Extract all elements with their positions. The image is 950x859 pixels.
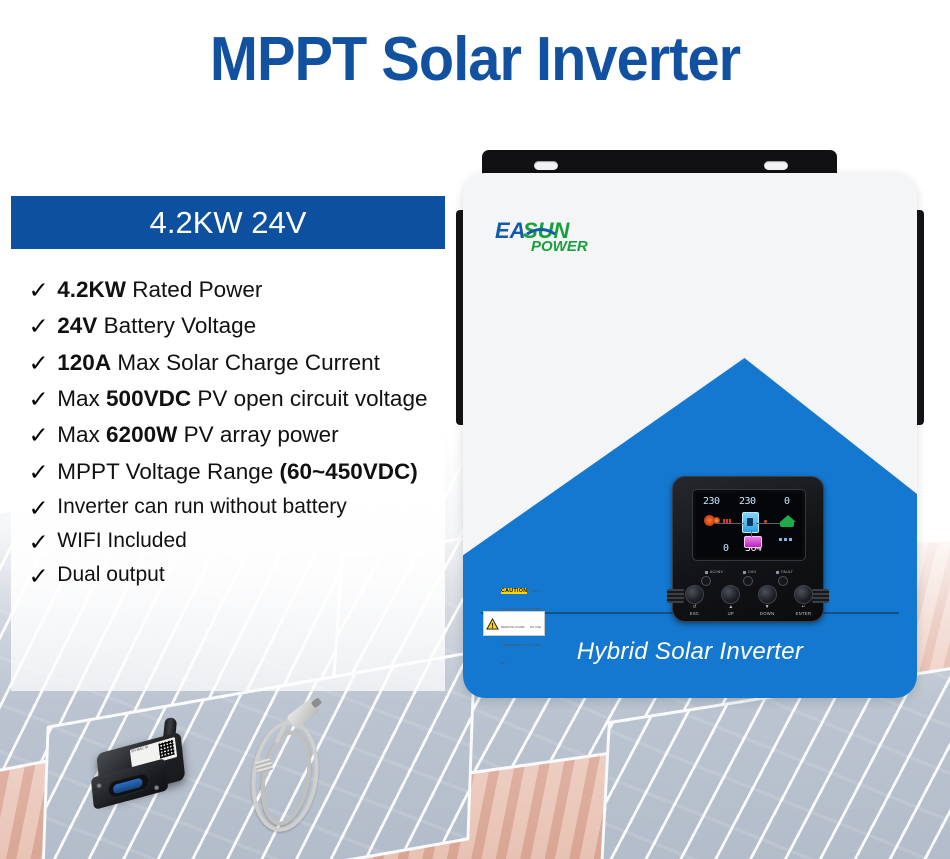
spec-card-header: 4.2KW 24V [11, 196, 445, 249]
led-dot-icon [743, 571, 746, 574]
esc-button[interactable]: ↺ ESC [685, 585, 704, 616]
spec-item-text: 120A Max Solar Charge Current [57, 348, 380, 379]
down-button-label: DOWN [760, 611, 774, 616]
lcd-flow-line-left [718, 523, 744, 524]
vent-grille-left [667, 589, 684, 603]
lcd-flow-dashes [779, 538, 793, 541]
check-icon: ✓ [29, 562, 49, 591]
spec-label: Rated Power [126, 277, 262, 302]
qr-code-icon [158, 740, 174, 759]
enter-button-label: ENTER [796, 611, 812, 616]
spec-item-text: WIFI Included [57, 527, 187, 556]
product-name-label: Hybrid Solar Inverter [463, 638, 917, 666]
lcd-load-house-icon [780, 515, 796, 522]
check-icon: ✓ [29, 349, 49, 378]
lcd-bezel: 230 230 0 0 564 [692, 489, 806, 561]
spec-item-text: Inverter can run without battery [57, 493, 346, 522]
led-dot-icon [776, 571, 779, 574]
spec-value: 120A [57, 350, 111, 375]
spec-list: ✓ 4.2KW Rated Power ✓ 24V Battery Voltag… [11, 275, 445, 596]
logo-text-power: POWER [531, 238, 588, 255]
spec-item: ✓ 4.2KW Rated Power [11, 275, 445, 306]
lcd-value-output-voltage: 230 [739, 496, 756, 507]
esc-button-cap[interactable] [685, 585, 704, 604]
spec-item: ✓ MPPT Voltage Range (60~450VDC) [11, 457, 445, 488]
enter-button-cap[interactable] [794, 585, 813, 604]
lcd-battery-icon [744, 536, 762, 548]
easun-logo-svg: EA SUN POWER [495, 218, 645, 256]
spec-item-text: Max 6200W PV array power [57, 420, 338, 451]
check-icon: ✓ [29, 421, 49, 450]
lcd-screen: 230 230 0 0 564 [696, 493, 802, 557]
check-icon: ✓ [29, 528, 49, 557]
control-panel[interactable]: 230 230 0 0 564 [672, 476, 824, 622]
led-indicator: AC/INV [705, 570, 723, 574]
spec-label: PV open circuit voltage [191, 386, 427, 411]
lcd-value-input-voltage: 230 [703, 496, 720, 507]
enter-button[interactable]: ↵ ENTER [794, 585, 813, 616]
spec-item-text: Max 500VDC PV open circuit voltage [57, 384, 427, 415]
down-button-cap[interactable] [758, 585, 777, 604]
spec-item: ✓ 120A Max Solar Charge Current [11, 348, 445, 379]
led-label: CHG [748, 570, 757, 574]
esc-icon: ↺ [692, 605, 696, 610]
spec-item: ✓ Inverter can run without battery [11, 493, 445, 522]
spec-label: Battery Voltage [97, 313, 256, 338]
spec-label: MPPT Voltage Range [57, 459, 279, 484]
down-arrow-icon: ▼ [765, 605, 770, 610]
spec-item: ✓ WIFI Included [11, 527, 445, 556]
led-label: FAULT [781, 570, 793, 574]
spec-value: (60~450VDC) [280, 459, 418, 484]
check-icon: ✓ [29, 276, 49, 305]
spec-item: ✓ 24V Battery Voltage [11, 311, 445, 342]
spec-label: PV array power [177, 422, 338, 447]
spec-item-text: Dual output [57, 561, 164, 590]
lcd-load-house-base [780, 522, 794, 527]
wifi-dongle: SN MAC ID [84, 716, 213, 820]
led-indicator: CHG [743, 570, 757, 574]
lcd-flow-line-down [751, 531, 752, 537]
easun-power-logo: EA SUN POWER [495, 218, 645, 256]
caution-band-label: CAUTION [501, 588, 527, 594]
spec-item-text: 24V Battery Voltage [57, 311, 256, 342]
spec-item-text: MPPT Voltage Range (60~450VDC) [57, 457, 417, 488]
check-icon: ✓ [29, 385, 49, 414]
vent-grille-right [812, 589, 829, 603]
logo-text-ea: EA [495, 218, 526, 243]
spec-value: 500VDC [106, 386, 191, 411]
spec-value: 6200W [106, 422, 177, 447]
spec-label: Max Solar Charge Current [111, 350, 380, 375]
inverter-body: EA SUN POWER 230 230 0 0 564 [463, 173, 917, 698]
spec-label: Max [57, 386, 106, 411]
bracket-slot [534, 161, 558, 170]
spec-label: Max [57, 422, 106, 447]
led-label: AC/INV [710, 570, 723, 574]
communication-cable [236, 700, 366, 830]
lcd-value-load: 0 [784, 496, 790, 507]
spec-value: 24V [57, 313, 97, 338]
spec-item: ✓ Max 500VDC PV open circuit voltage [11, 384, 445, 415]
spec-item: ✓ Dual output [11, 561, 445, 590]
caution-sticker: ! CAUTION RISK OF ELECTRIC SHOCK. DO NOT… [483, 611, 545, 636]
spec-item: ✓ Max 6200W PV array power [11, 420, 445, 451]
up-button-cap[interactable] [721, 585, 740, 604]
spec-item-text: 4.2KW Rated Power [57, 275, 262, 306]
lcd-flow-dot [764, 520, 767, 523]
up-arrow-icon: ▲ [728, 605, 733, 610]
check-icon: ✓ [29, 458, 49, 487]
spec-value: 4.2KW [57, 277, 126, 302]
button-row: ↺ ESC ▲ UP ▼ DOWN ↵ ENTER [685, 585, 813, 615]
enter-icon: ↵ [801, 605, 805, 610]
down-button[interactable]: ▼ DOWN [758, 585, 777, 616]
warning-triangle-icon: ! [486, 618, 499, 630]
page-title: MPPT Solar Inverter [33, 24, 917, 95]
check-icon: ✓ [29, 312, 49, 341]
lcd-value-battery-current: 0 [723, 543, 729, 554]
up-button-label: UP [728, 611, 734, 616]
led-dot-icon [705, 571, 708, 574]
check-icon: ✓ [29, 494, 49, 523]
inverter-product-image: EA SUN POWER 230 230 0 0 564 [455, 150, 925, 720]
svg-text:!: ! [491, 621, 493, 630]
esc-button-label: ESC [690, 611, 700, 616]
lcd-flow-line-right [756, 523, 780, 524]
up-button[interactable]: ▲ UP [721, 585, 740, 616]
led-indicator: FAULT [776, 570, 793, 574]
bracket-slot [764, 161, 788, 170]
